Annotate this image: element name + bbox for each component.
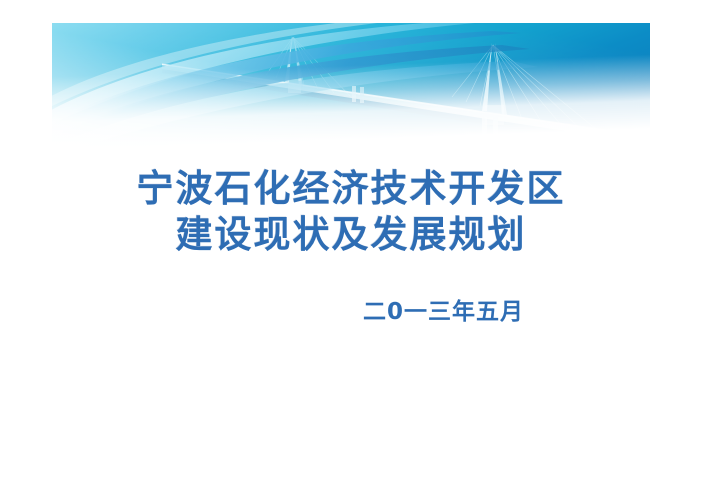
bridge-header-image <box>52 23 650 147</box>
date-text: 二0一三年五月 <box>363 299 524 325</box>
title-line-1: 宁波石化经济技术开发区 <box>0 166 702 212</box>
banner-bottom-fade <box>52 23 650 147</box>
slide-date: 二0一三年五月 <box>0 298 702 326</box>
bridge-header-graphic <box>52 23 650 147</box>
slide-title: 宁波石化经济技术开发区 建设现状及发展规划 <box>0 166 702 258</box>
title-line-2: 建设现状及发展规划 <box>0 212 702 258</box>
title-slide: 宁波石化经济技术开发区 建设现状及发展规划 二0一三年五月 <box>0 0 702 496</box>
